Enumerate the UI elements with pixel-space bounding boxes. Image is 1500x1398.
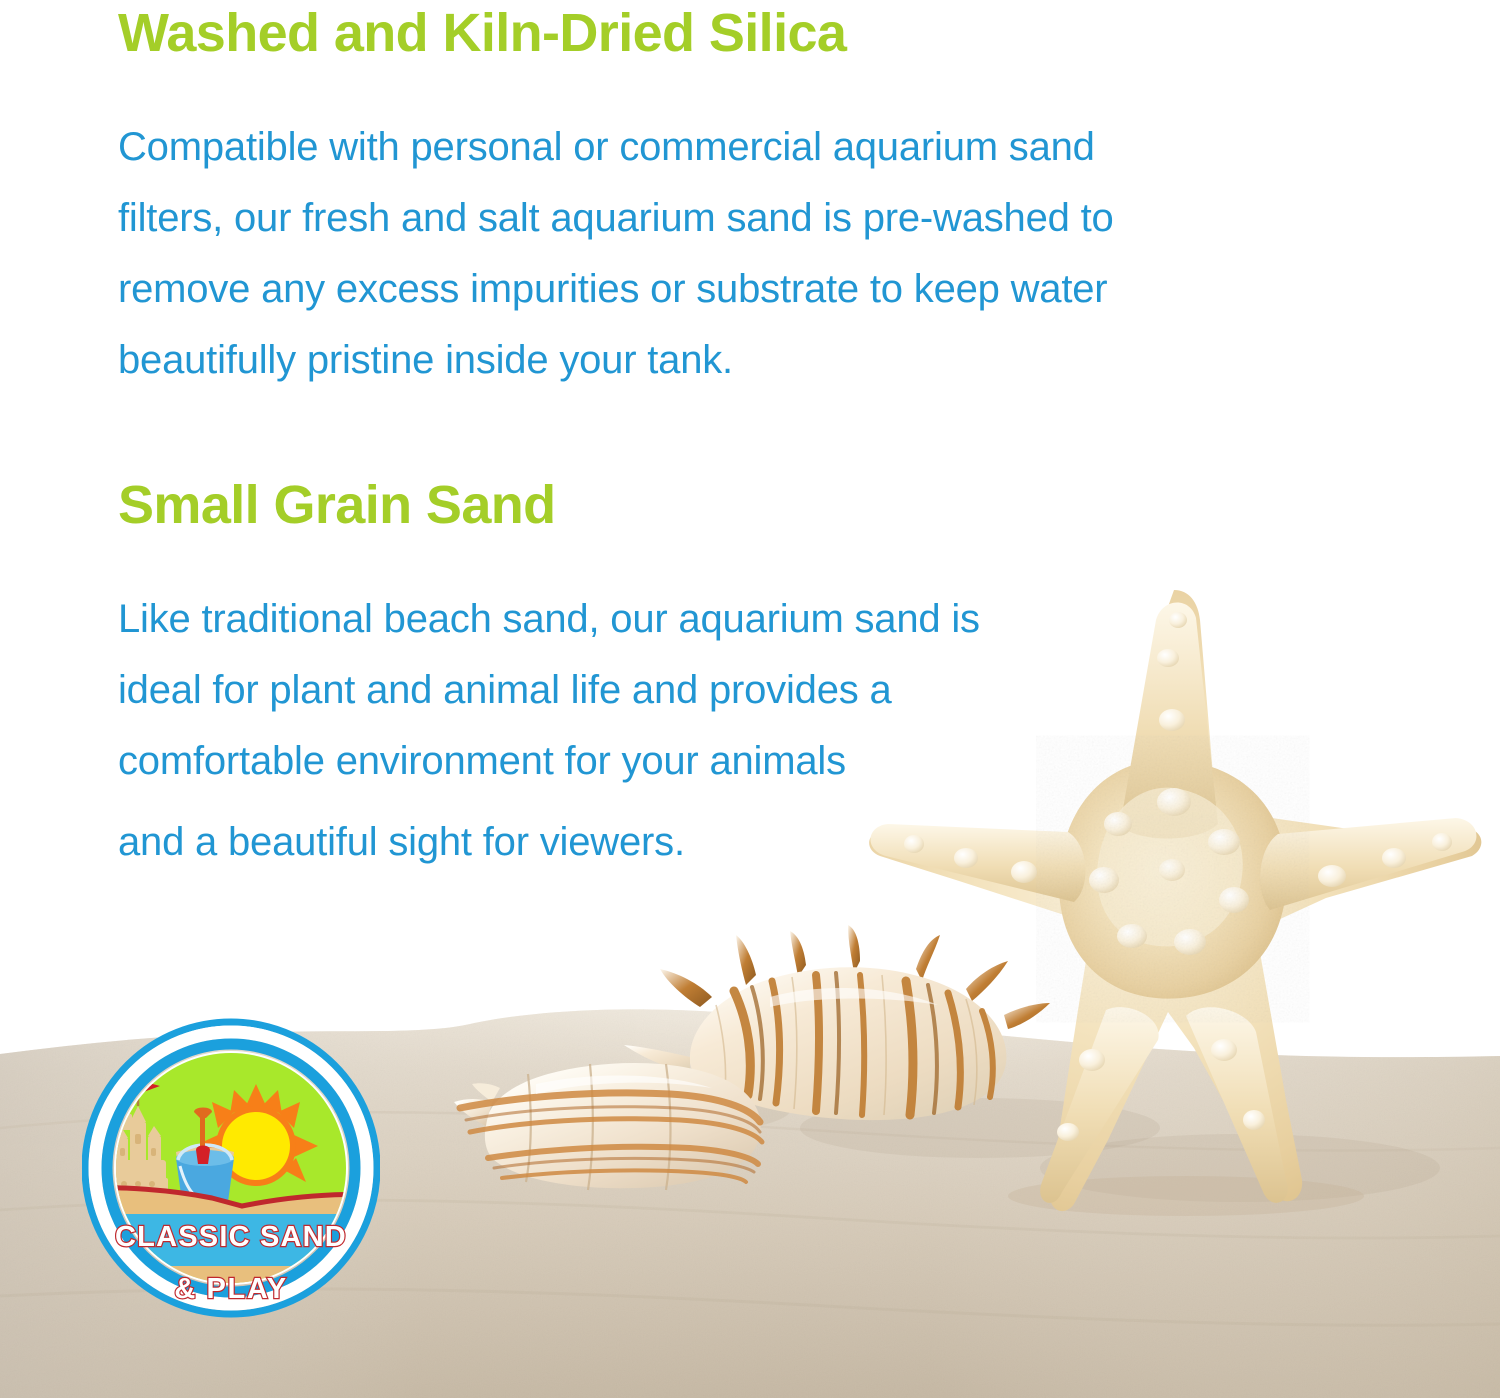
classic-sand-and-play-logo: CLASSIC SAND & PLAY	[82, 1018, 380, 1318]
paragraph-line: Like traditional beach sand, our aquariu…	[118, 584, 980, 655]
section-paragraph: Compatible with personal or commercial a…	[118, 112, 1114, 396]
logo-line-one: CLASSIC SAND	[115, 1221, 347, 1253]
section-heading: Washed and Kiln-Dried Silica	[118, 6, 1114, 60]
paragraph-line: beautifully pristine inside your tank.	[118, 325, 1114, 396]
paragraph-line: Compatible with personal or commercial a…	[118, 112, 1114, 183]
section-washed-kiln-dried-silica: Washed and Kiln-Dried Silica Compatible …	[118, 6, 1114, 396]
section-small-grain-sand: Small Grain Sand Like traditional beach …	[118, 478, 980, 878]
paragraph-line: ideal for plant and animal life and prov…	[118, 655, 980, 726]
paragraph-line: and a beautiful sight for viewers.	[118, 807, 980, 878]
logo-line-two: & PLAY	[174, 1273, 287, 1305]
spiral-cone-shell	[440, 1040, 770, 1200]
paragraph-line: remove any excess impurities or substrat…	[118, 254, 1114, 325]
section-paragraph: Like traditional beach sand, our aquariu…	[118, 584, 980, 878]
paragraph-line: comfortable environment for your animals	[118, 726, 980, 797]
paragraph-line: filters, our fresh and salt aquarium san…	[118, 183, 1114, 254]
section-heading: Small Grain Sand	[118, 478, 980, 532]
product-feature-panel: Washed and Kiln-Dried Silica Compatible …	[0, 0, 1500, 1398]
